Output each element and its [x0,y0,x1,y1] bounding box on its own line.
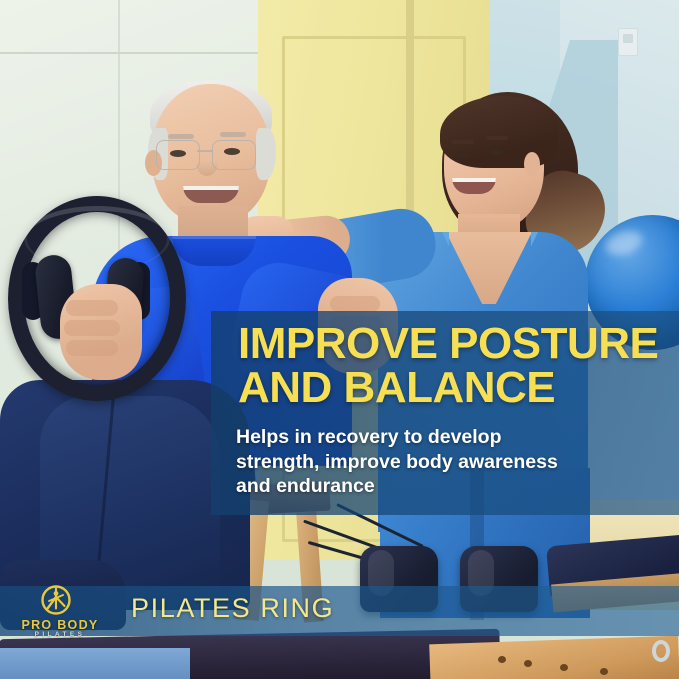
reformer-wood-rail [429,636,679,679]
finger-2 [64,320,120,336]
finger-4 [330,296,380,312]
therapist-eye-right [489,149,503,155]
therapist-ear [524,152,540,176]
man-brow-left [168,134,194,139]
product-name-label: PILATES RING [131,593,334,624]
therapist-brow-right [486,136,508,140]
blue-mat-edge [0,648,190,679]
finger-1 [66,300,118,316]
wood-hole-4 [600,668,608,675]
wood-hole-1 [498,656,506,663]
logo-brand-text: PRO BODY [12,618,108,632]
wall-outlet [618,28,638,56]
promo-headline: IMPROVE POSTURE AND BALANCE [238,322,676,409]
finger-3 [66,340,118,356]
pro-body-pilates-emblem-icon [38,584,74,620]
man-smile [183,186,239,203]
wood-hole-3 [560,664,568,671]
reformer-hook [652,640,670,662]
wood-hole-2 [524,660,532,667]
wall-seam-horizontal [0,52,258,54]
logo-tagline-text: PILATES [12,631,108,638]
man-eye-left [170,150,186,157]
man-brow-right [220,132,246,137]
brand-logo: PRO BODY PILATES [12,588,108,636]
product-promo-image: IMPROVE POSTURE AND BALANCE Helps in rec… [0,0,679,679]
therapist-eye-left [455,152,469,158]
man-eye-right [224,148,240,155]
promo-subcopy: Helps in recovery to develop strength, i… [236,425,656,499]
therapist-brow-left [452,140,474,144]
eyeglasses-right-lens [212,140,256,170]
man-nose [196,150,218,176]
